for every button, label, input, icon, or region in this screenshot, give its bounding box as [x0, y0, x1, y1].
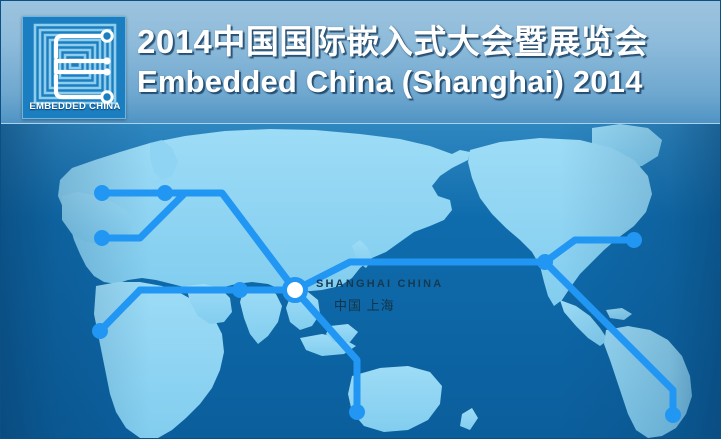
route-africa: [100, 290, 140, 331]
shanghai-label-en: SHANGHAI CHINA: [316, 278, 443, 290]
page-title-en: Embedded China (Shanghai) 2014: [137, 62, 712, 102]
banner-header: EMBEDDED CHINA 2014中国国际嵌入式大会暨展览会 Embedde…: [0, 0, 721, 124]
event-banner: SHANGHAI CHINA 中国 上海: [0, 0, 721, 439]
route-america-south: [545, 262, 673, 415]
node-central-europe: [157, 185, 173, 201]
route-america-north: [545, 240, 634, 262]
logo-wordmark: EMBEDDED CHINA: [23, 101, 126, 112]
page-title-cn: 2014中国国际嵌入式大会暨展览会: [137, 22, 712, 62]
node-north-europe: [94, 185, 110, 201]
node-west-africa: [92, 323, 108, 339]
embedded-china-logo: EMBEDDED CHINA: [22, 16, 126, 119]
node-east-america: [626, 232, 642, 248]
node-south-america: [665, 407, 681, 423]
route-europe-west: [102, 193, 185, 238]
shanghai-hub-marker: [285, 280, 306, 301]
node-central-asia: [232, 282, 248, 298]
node-west-europe: [94, 230, 110, 246]
banner-titles: 2014中国国际嵌入式大会暨展览会 Embedded China (Shangh…: [137, 22, 712, 102]
shanghai-label-cn: 中国 上海: [334, 295, 395, 314]
node-west-america: [537, 254, 553, 270]
node-oceania: [349, 404, 365, 420]
